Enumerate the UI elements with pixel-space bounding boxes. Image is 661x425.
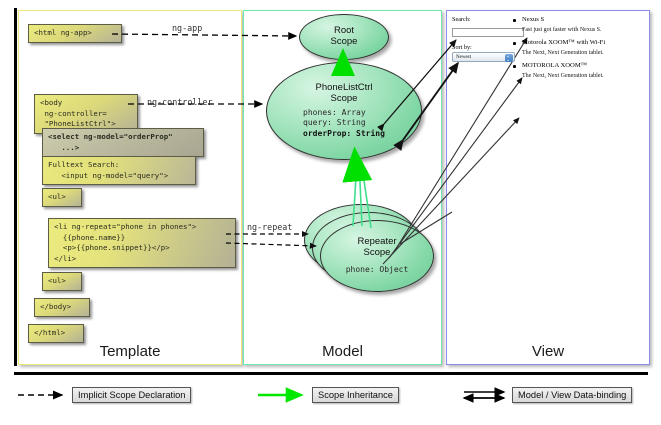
list-item[interactable]: MOTOROLA XOOM™ The Next, Next Generation…: [513, 62, 645, 79]
legend-item-scope-inheritance: Scope Inheritance: [254, 386, 399, 404]
phone-snippet: Fast just got faster with Nexus S.: [513, 27, 645, 33]
scope-prop-phone: phone: Object: [346, 265, 409, 275]
scope-root-title-2: Scope: [331, 37, 358, 48]
legend-label-model-view-data-binding: Model / View Data-binding: [512, 387, 632, 403]
scope-repeater-title-2: Scope: [364, 248, 391, 259]
legend-divider: [14, 372, 648, 375]
scope-prop-orderprop: orderProp: String: [303, 129, 385, 139]
code-box-ul-open: <ul>: [42, 188, 82, 207]
legend-icon-green-arrow: [254, 387, 312, 403]
phone-snippet: The Next, Next Generation tablet.: [513, 50, 645, 56]
legend-icon-double-arrow: [462, 386, 512, 404]
phone-list: Nexus S Fast just got faster with Nexus …: [513, 16, 645, 85]
scope-phonelistctrl-props: phones: Array query: String orderProp: S…: [303, 108, 385, 139]
code-box-html-close: </html>: [28, 324, 84, 343]
connector-label-ng-controller: ng-controller: [147, 97, 213, 107]
phone-name: Motorola XOOM™ with Wi-Fi: [513, 39, 645, 46]
legend: Implicit Scope Declaration Scope Inherit…: [14, 386, 654, 412]
list-item[interactable]: Nexus S Fast just got faster with Nexus …: [513, 16, 645, 33]
panel-label-template: Template: [19, 343, 241, 360]
sort-select-value: Newest: [456, 55, 471, 60]
code-box-ul-close: <ul>: [42, 272, 82, 291]
scope-prop-query: query: String: [303, 118, 385, 128]
scope-phonelistctrl-title-2: Scope: [331, 94, 358, 105]
code-box-select-tag: <select ng-model="orderProp" ...>: [42, 128, 204, 157]
panel-label-view: View: [447, 343, 649, 360]
left-spine: [14, 8, 17, 366]
code-box-li-repeat: <li ng-repeat="phone in phones"> {{phone…: [48, 218, 236, 268]
code-box-search-tag: Fulltext Search: <input ng-model="query"…: [42, 156, 196, 185]
connector-label-ng-repeat: ng-repeat: [247, 222, 292, 232]
code-box-body-close: </body>: [34, 298, 90, 317]
scope-phonelistctrl: PhoneListCtrl Scope phones: Array query:…: [266, 62, 422, 160]
list-item[interactable]: Motorola XOOM™ with Wi-Fi The Next, Next…: [513, 39, 645, 56]
legend-label-implicit-scope-declaration: Implicit Scope Declaration: [72, 387, 191, 403]
legend-item-model-view-data-binding: Model / View Data-binding: [462, 386, 632, 404]
panel-label-model: Model: [244, 343, 441, 360]
legend-item-implicit-scope-declaration: Implicit Scope Declaration: [14, 386, 191, 404]
scope-repeater: Repeater Scope phone: Object: [320, 220, 434, 292]
scope-repeater-props: phone: Object: [346, 265, 409, 275]
scope-root: Root Scope: [299, 14, 389, 60]
legend-label-scope-inheritance: Scope Inheritance: [312, 387, 399, 403]
scope-prop-phones: phones: Array: [303, 108, 385, 118]
connector-label-ng-app: ng-app: [172, 23, 202, 33]
phone-name: MOTOROLA XOOM™: [513, 62, 645, 69]
phone-name: Nexus S: [513, 16, 645, 23]
angularjs-architecture-diagram: Template Model View <html ng-app> <body …: [0, 0, 661, 425]
sort-select[interactable]: Newest: [452, 52, 515, 62]
code-box-html-open: <html ng-app>: [28, 24, 122, 43]
chevron-updown-icon: [505, 54, 513, 62]
phone-snippet: The Next, Next Generation tablet.: [513, 73, 645, 79]
legend-icon-dashed-arrow: [14, 387, 72, 403]
